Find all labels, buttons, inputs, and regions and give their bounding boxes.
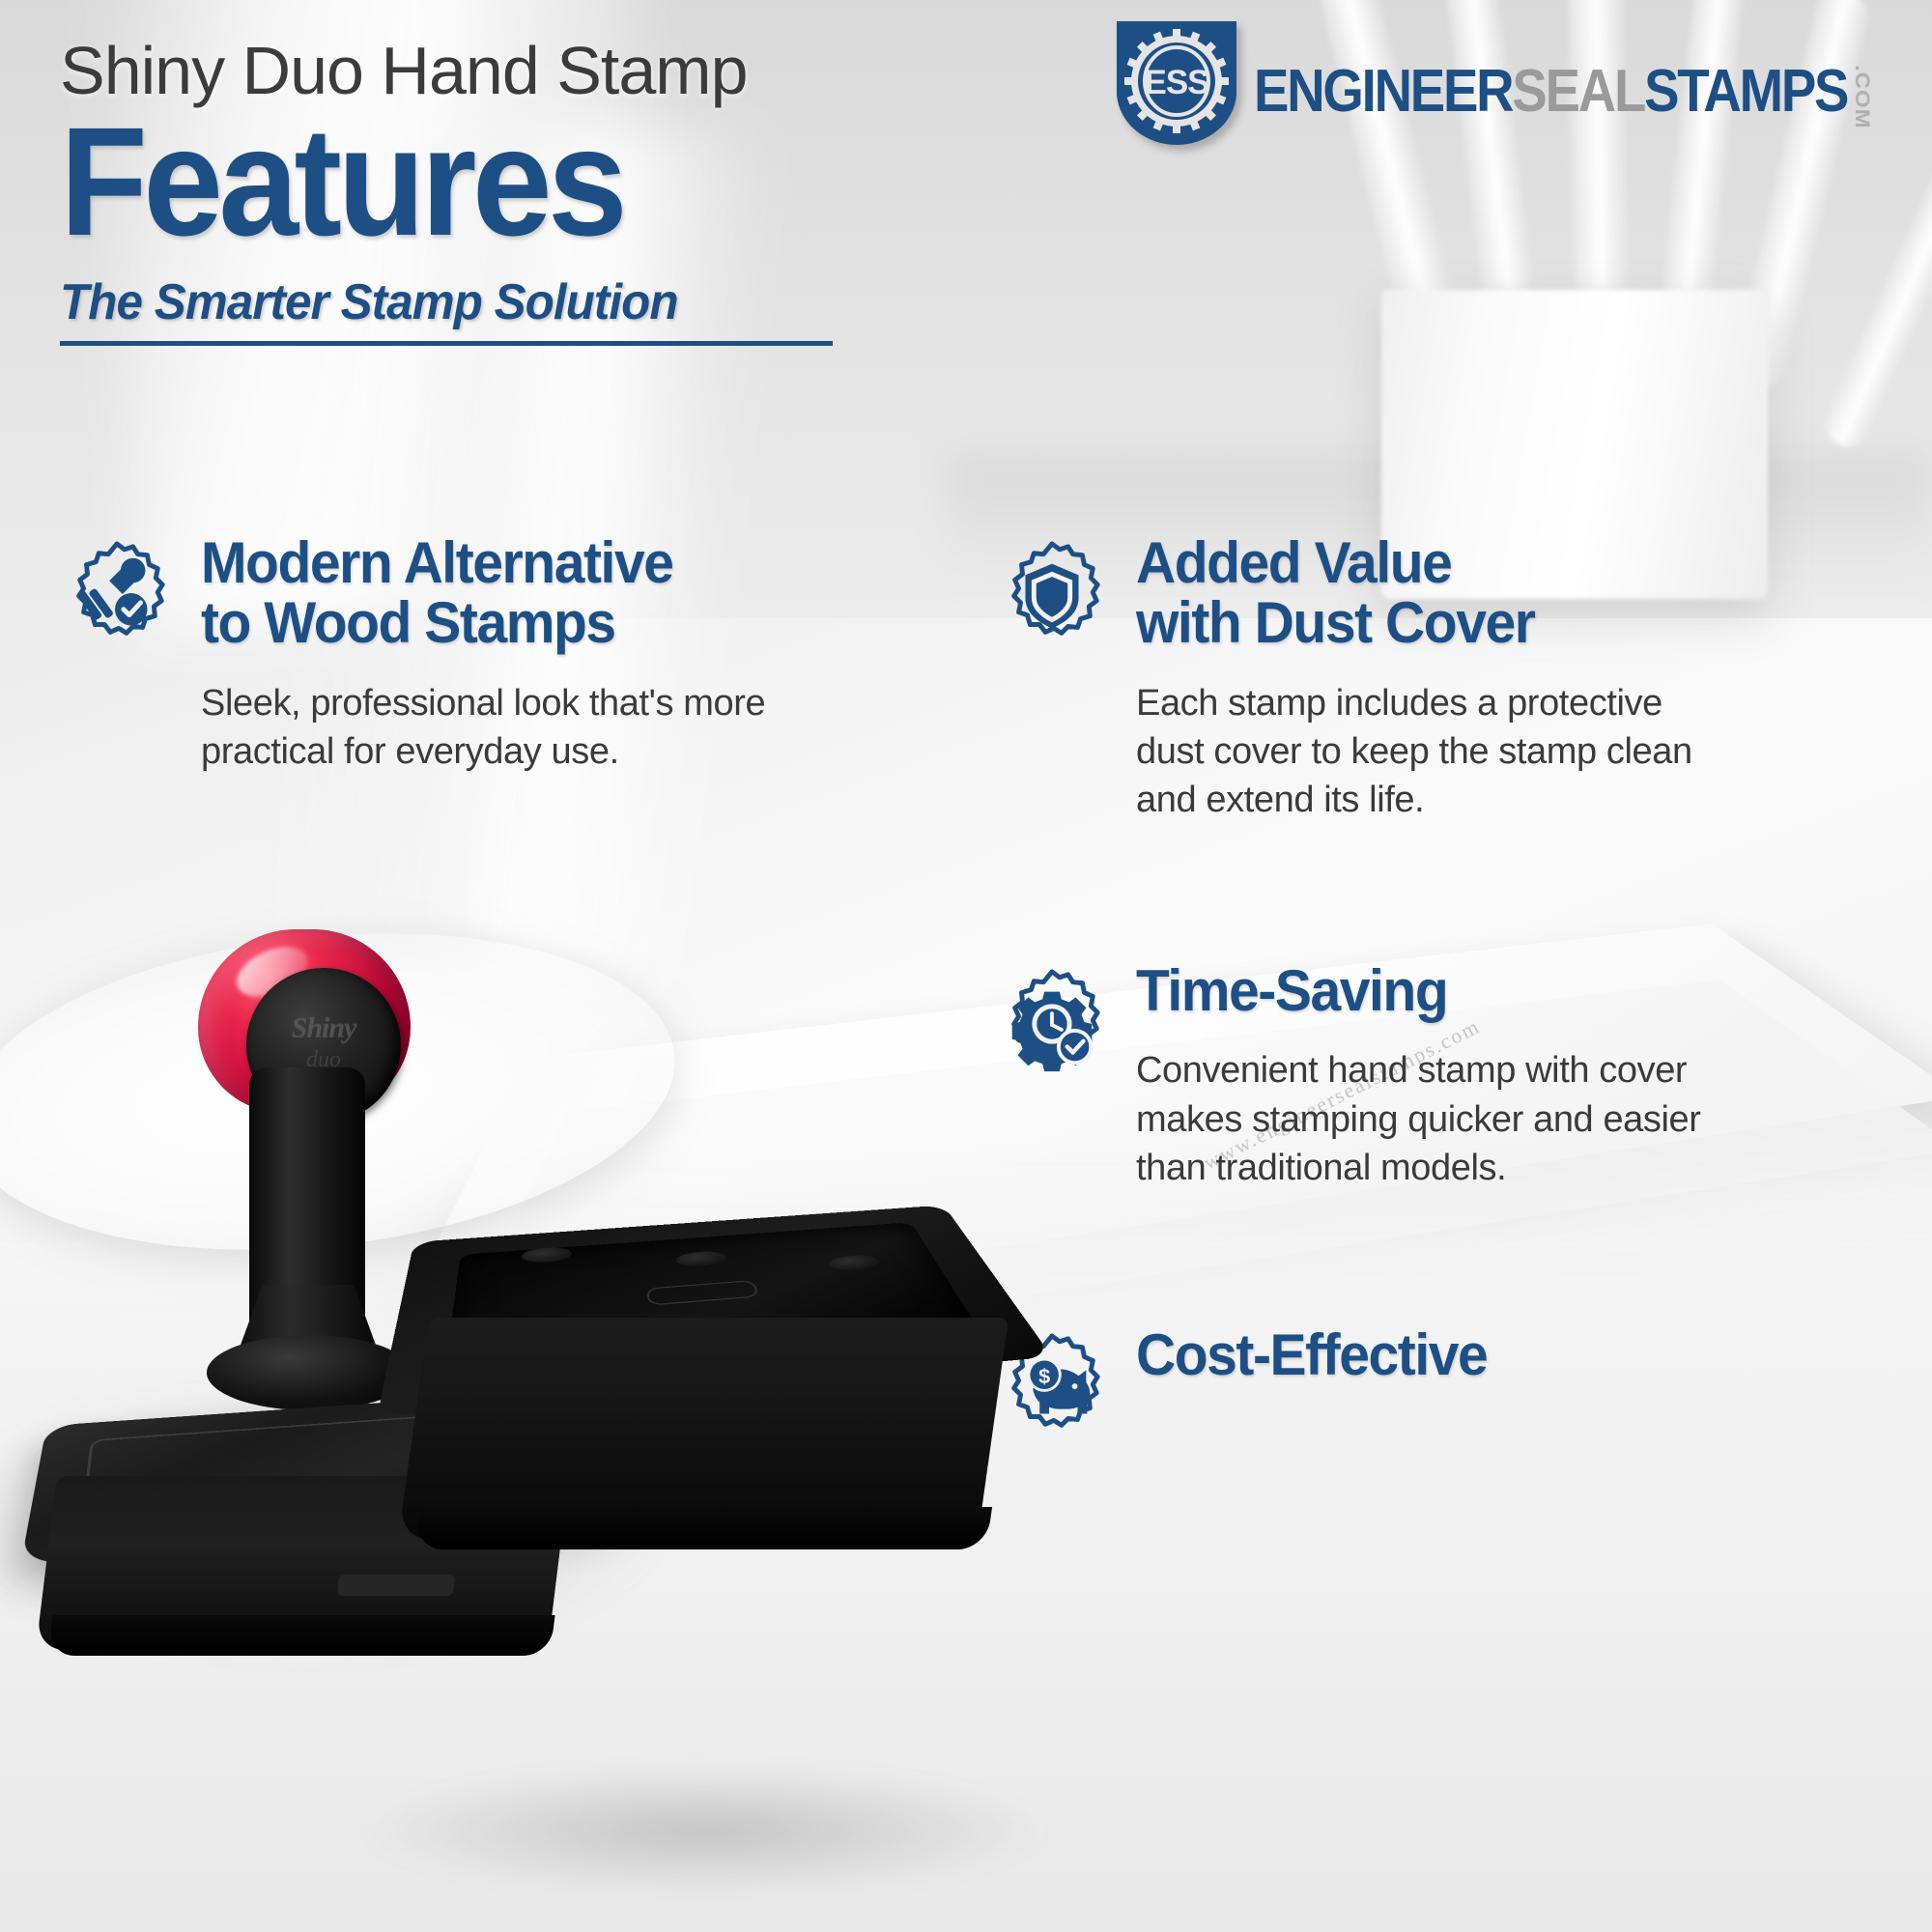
feature-text: Cost-Effective xyxy=(1136,1325,1903,1445)
product-photo-dust-cover xyxy=(406,1150,1082,1884)
feature-description: Convenient hand stamp with cover makes s… xyxy=(1136,1046,1903,1191)
tagline: The Smarter Stamp Solution xyxy=(60,273,794,331)
feature-title: Added Value with Dust Cover xyxy=(1136,533,1864,654)
feature-title: Cost-Effective xyxy=(1136,1325,1864,1385)
feature-description: Each stamp includes a protective dust co… xyxy=(1136,679,1903,824)
feature-text: Modern Alternative to Wood Stamps Sleek,… xyxy=(201,533,929,776)
stamp-cap-brand-label: Shiny xyxy=(292,1013,356,1042)
tagline-block: The Smarter Stamp Solution xyxy=(60,273,833,346)
ess-shield-badge-icon: ESS xyxy=(1113,17,1240,149)
wrench-check-badge-icon xyxy=(60,539,174,653)
brand-wordmark: ENGINEER SEAL STAMPS .COM xyxy=(1254,37,1872,129)
shield-badge-icon xyxy=(995,539,1109,653)
feature-text: Time-Saving Convenient hand stamp with c… xyxy=(1136,961,1903,1192)
wordmark-tld: .COM xyxy=(1852,65,1872,129)
wordmark-seal: SEAL xyxy=(1512,62,1644,122)
feature-item: Added Value with Dust Cover Each stamp i… xyxy=(995,533,1903,824)
tagline-underline xyxy=(60,341,833,346)
infographic-page: www.engineersealstamps.com Shiny Duo Han… xyxy=(0,0,1932,1932)
feature-title: Time-Saving xyxy=(1136,961,1864,1021)
feature-item: Modern Alternative to Wood Stamps Sleek,… xyxy=(60,533,929,776)
feature-description: Sleek, professional look that's more pra… xyxy=(201,679,929,776)
brand-logo[interactable]: ESS xyxy=(1113,17,1932,149)
feature-title: Modern Alternative to Wood Stamps xyxy=(201,533,893,654)
svg-text:ESS: ESS xyxy=(1144,64,1208,101)
dust-cover-foot xyxy=(414,1507,992,1549)
wordmark-stamps: STAMPS xyxy=(1644,62,1847,122)
wordmark-engineer: ENGINEER xyxy=(1254,62,1512,122)
feature-text: Added Value with Dust Cover Each stamp i… xyxy=(1136,533,1903,824)
